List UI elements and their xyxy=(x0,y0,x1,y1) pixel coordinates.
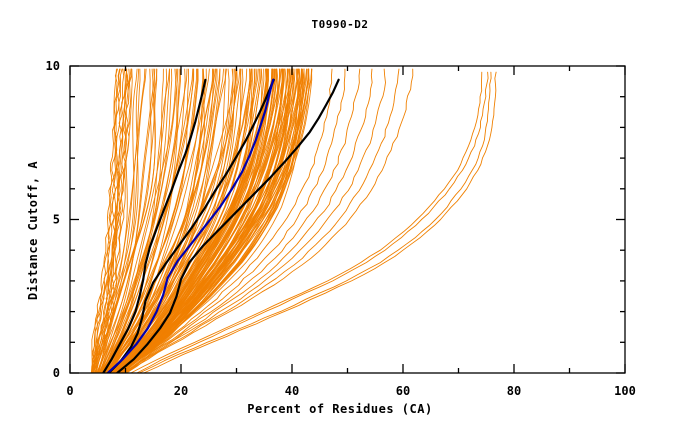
x-tick-label: 40 xyxy=(285,384,299,398)
x-tick-label: 0 xyxy=(66,384,73,398)
x-tick-label: 60 xyxy=(396,384,410,398)
x-tick-label: 100 xyxy=(614,384,636,398)
y-tick-label: 0 xyxy=(53,366,60,380)
curve xyxy=(137,72,488,373)
chart-svg: 0510020406080100 xyxy=(0,0,680,440)
x-tick-label: 80 xyxy=(507,384,521,398)
curve-layer xyxy=(91,69,496,373)
y-tick-label: 5 xyxy=(53,213,60,227)
plot-canvas: T0990-D2 Distance Cutoff, A Percent of R… xyxy=(0,0,680,440)
x-tick-label: 20 xyxy=(174,384,188,398)
y-tick-label: 10 xyxy=(46,59,60,73)
